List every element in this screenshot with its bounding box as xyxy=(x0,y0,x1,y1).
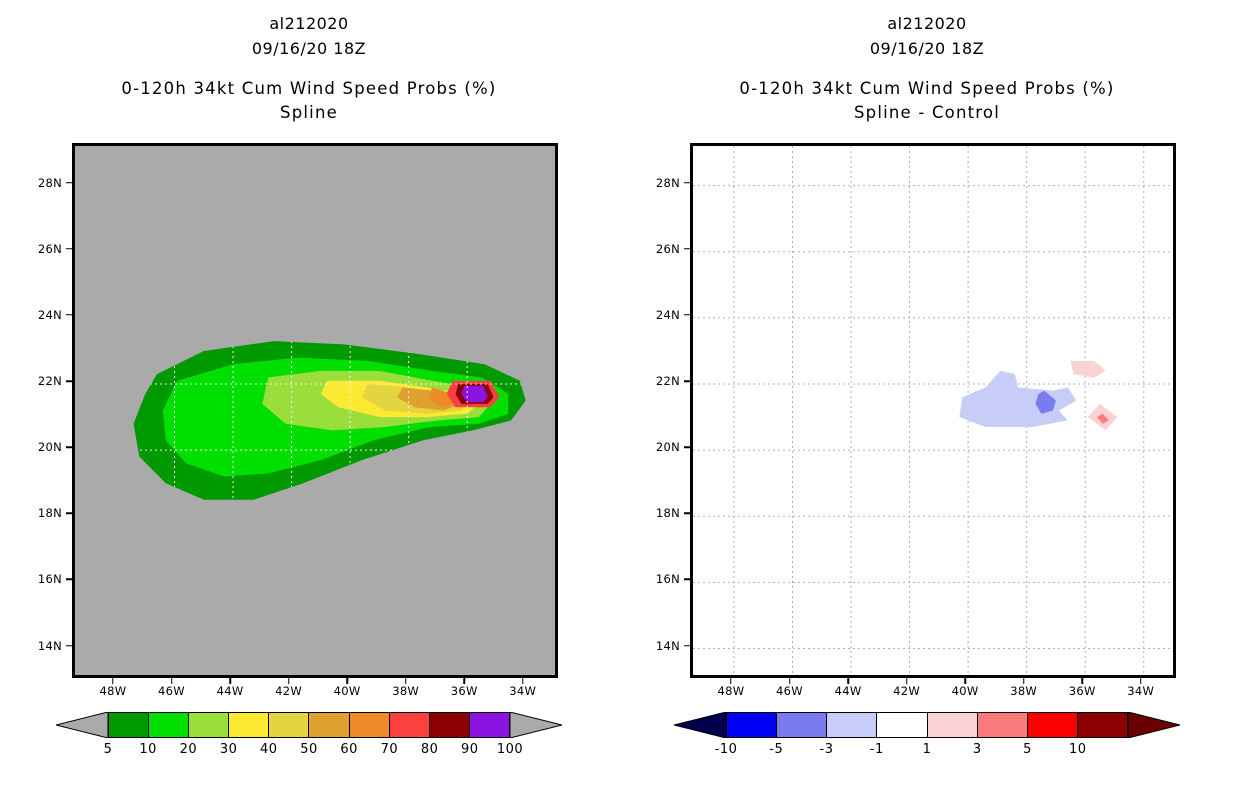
colorbar-band-5 xyxy=(309,713,349,737)
x-tick-mark-46W xyxy=(171,678,173,684)
colorbar-tick-70: 70 xyxy=(381,742,399,757)
y-tick-mark-24N xyxy=(684,314,690,316)
x-tick-mark-40W xyxy=(964,678,966,684)
y-tick-mark-22N xyxy=(66,380,72,382)
chart-subtitle-right: Spline - Control xyxy=(618,103,1236,122)
y-tick-mark-26N xyxy=(66,248,72,250)
colorbar-high-cap-left xyxy=(510,712,562,738)
colorbar-tick-90: 90 xyxy=(461,742,479,757)
colorbar-tick-60: 60 xyxy=(340,742,358,757)
colorbar-high-cap-right xyxy=(1128,712,1180,738)
storm-id-left: al212020 xyxy=(0,14,618,33)
x-tick-label-40W: 40W xyxy=(952,684,979,698)
x-tick-mark-38W xyxy=(1023,678,1025,684)
panel-spline: al212020 09/16/20 18Z 0-120h 34kt Cum Wi… xyxy=(0,0,618,800)
colorbar-tick-50: 50 xyxy=(300,742,318,757)
chart-subtitle-left: Spline xyxy=(0,103,618,122)
colorbar-low-cap-right xyxy=(674,712,726,738)
y-tick-label-16N: 16N xyxy=(38,572,62,586)
x-tick-mark-34W xyxy=(1140,678,1142,684)
y-axis-left: 28N26N24N22N20N18N16N14N xyxy=(0,0,72,800)
colorbar-tick-5: 5 xyxy=(104,742,113,757)
colorbar-tick-100: 100 xyxy=(497,742,523,757)
y-tick-label-14N: 14N xyxy=(656,639,680,653)
x-tick-label-36W: 36W xyxy=(1069,684,1096,698)
y-tick-label-18N: 18N xyxy=(656,506,680,520)
x-tick-mark-44W xyxy=(847,678,849,684)
y-tick-mark-18N xyxy=(684,513,690,515)
y-tick-label-24N: 24N xyxy=(656,308,680,322)
panel-spline-minus-control: al212020 09/16/20 18Z 0-120h 34kt Cum Wi… xyxy=(618,0,1236,800)
y-tick-mark-14N xyxy=(684,645,690,647)
colorbar-tick-1: 1 xyxy=(923,742,932,757)
colorbar-low-cap-left xyxy=(56,712,108,738)
colorbar-bands-left xyxy=(108,712,510,738)
x-tick-mark-34W xyxy=(522,678,524,684)
x-tick-mark-42W xyxy=(906,678,908,684)
colorbar-tick--1: -1 xyxy=(870,742,884,757)
colorbar-probability: 5102030405060708090100 xyxy=(0,712,618,772)
x-tick-label-46W: 46W xyxy=(776,684,803,698)
x-tick-label-46W: 46W xyxy=(158,684,185,698)
colorbar-tick--5: -5 xyxy=(769,742,783,757)
colorbar-band-2 xyxy=(189,713,229,737)
x-tick-mark-48W xyxy=(112,678,114,684)
x-tick-label-34W: 34W xyxy=(509,684,536,698)
y-tick-mark-26N xyxy=(684,248,690,250)
colorbar-band-4 xyxy=(928,713,978,737)
x-tick-mark-42W xyxy=(288,678,290,684)
chart-title-right: 0-120h 34kt Cum Wind Speed Probs (%) xyxy=(618,79,1236,98)
colorbar-anomaly: -10-5-3-113510 xyxy=(618,712,1236,772)
colorbar-tick-10: 10 xyxy=(1069,742,1087,757)
datetime-right: 09/16/20 18Z xyxy=(618,39,1236,58)
y-tick-mark-22N xyxy=(684,380,690,382)
anomaly-level--1 xyxy=(959,371,1076,427)
y-tick-mark-24N xyxy=(66,314,72,316)
colorbar-band-1 xyxy=(777,713,827,737)
colorbar-band-7 xyxy=(1078,713,1127,737)
x-tick-label-38W: 38W xyxy=(1010,684,1037,698)
y-tick-label-24N: 24N xyxy=(38,308,62,322)
chart-title-left: 0-120h 34kt Cum Wind Speed Probs (%) xyxy=(0,79,618,98)
colorbar-tick-80: 80 xyxy=(421,742,439,757)
colorbar-tick-10: 10 xyxy=(139,742,157,757)
x-tick-label-34W: 34W xyxy=(1127,684,1154,698)
colorbar-band-7 xyxy=(390,713,430,737)
y-tick-label-28N: 28N xyxy=(38,176,62,190)
datetime-left: 09/16/20 18Z xyxy=(0,39,618,58)
x-tick-mark-44W xyxy=(229,678,231,684)
contour-layer-left xyxy=(75,146,555,675)
y-tick-label-20N: 20N xyxy=(656,440,680,454)
y-tick-mark-20N xyxy=(684,446,690,448)
colorbar-band-1 xyxy=(149,713,189,737)
colorbar-band-8 xyxy=(430,713,470,737)
colorbar-band-5 xyxy=(978,713,1028,737)
x-tick-label-44W: 44W xyxy=(835,684,862,698)
x-tick-mark-36W xyxy=(1081,678,1083,684)
x-tick-mark-48W xyxy=(730,678,732,684)
colorbar-band-4 xyxy=(269,713,309,737)
colorbar-tick--10: -10 xyxy=(715,742,738,757)
map-plot-area-right xyxy=(690,143,1176,678)
y-tick-label-16N: 16N xyxy=(656,572,680,586)
colorbar-band-0 xyxy=(727,713,777,737)
colorbar-tick-5: 5 xyxy=(1023,742,1032,757)
y-axis-right: 28N26N24N22N20N18N16N14N xyxy=(618,0,690,800)
x-tick-label-42W: 42W xyxy=(275,684,302,698)
colorbar-band-3 xyxy=(877,713,927,737)
panel-titles-right: al212020 09/16/20 18Z 0-120h 34kt Cum Wi… xyxy=(618,0,1236,122)
y-tick-mark-20N xyxy=(66,446,72,448)
colorbar-band-6 xyxy=(1028,713,1078,737)
y-tick-label-20N: 20N xyxy=(38,440,62,454)
x-tick-label-38W: 38W xyxy=(392,684,419,698)
colorbar-bands-right xyxy=(726,712,1128,738)
y-tick-label-22N: 22N xyxy=(38,374,62,388)
y-tick-mark-16N xyxy=(684,579,690,581)
y-tick-label-22N: 22N xyxy=(656,374,680,388)
y-tick-label-18N: 18N xyxy=(38,506,62,520)
y-tick-label-14N: 14N xyxy=(38,639,62,653)
y-tick-label-26N: 26N xyxy=(656,242,680,256)
x-tick-mark-40W xyxy=(346,678,348,684)
colorbar-band-6 xyxy=(350,713,390,737)
contour-svg-left xyxy=(75,146,555,675)
colorbar-tick-3: 3 xyxy=(973,742,982,757)
y-tick-mark-28N xyxy=(66,182,72,184)
anomaly-level-1 xyxy=(1071,361,1106,378)
x-tick-label-48W: 48W xyxy=(718,684,745,698)
contour-layer-right xyxy=(693,146,1173,675)
x-tick-label-48W: 48W xyxy=(100,684,127,698)
y-tick-mark-16N xyxy=(66,579,72,581)
contour-svg-right xyxy=(693,146,1173,675)
y-tick-mark-28N xyxy=(684,182,690,184)
colorbar-tick-30: 30 xyxy=(220,742,238,757)
colorbar-band-9 xyxy=(470,713,509,737)
colorbar-tick--3: -3 xyxy=(820,742,834,757)
colorbar-tick-40: 40 xyxy=(260,742,278,757)
y-tick-label-28N: 28N xyxy=(656,176,680,190)
colorbar-band-3 xyxy=(229,713,269,737)
x-tick-label-44W: 44W xyxy=(217,684,244,698)
y-tick-mark-18N xyxy=(66,513,72,515)
y-tick-mark-14N xyxy=(66,645,72,647)
x-tick-mark-46W xyxy=(789,678,791,684)
x-tick-label-40W: 40W xyxy=(334,684,361,698)
colorbar-band-0 xyxy=(109,713,149,737)
y-tick-label-26N: 26N xyxy=(38,242,62,256)
x-tick-mark-38W xyxy=(405,678,407,684)
panel-titles-left: al212020 09/16/20 18Z 0-120h 34kt Cum Wi… xyxy=(0,0,618,122)
map-plot-area-left xyxy=(72,143,558,678)
colorbar-band-2 xyxy=(827,713,877,737)
colorbar-tick-20: 20 xyxy=(180,742,198,757)
x-tick-label-42W: 42W xyxy=(893,684,920,698)
x-tick-label-36W: 36W xyxy=(451,684,478,698)
storm-id-right: al212020 xyxy=(618,14,1236,33)
x-tick-mark-36W xyxy=(463,678,465,684)
